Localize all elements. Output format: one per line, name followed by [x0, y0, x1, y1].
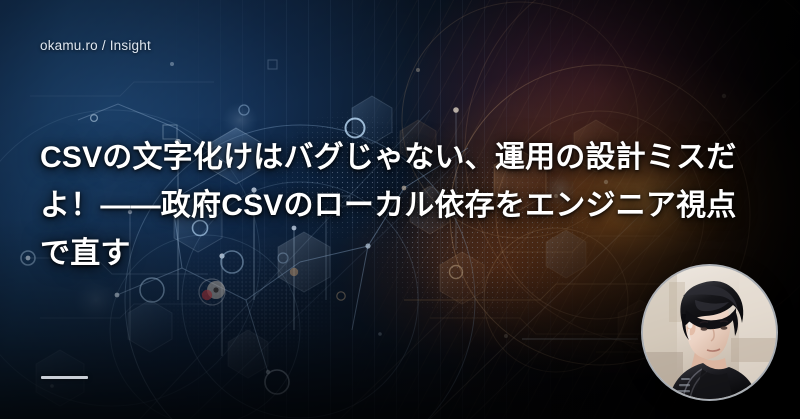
avatar-portrait-icon: [643, 266, 776, 399]
page-title: CSVの文字化けはバグじゃない、運用の設計ミスだよ！——政府CSVのローカル依存…: [40, 134, 752, 278]
title-underline-rule: [41, 376, 88, 379]
site-kicker: okamu.ro / Insight: [40, 38, 151, 53]
author-avatar: [643, 266, 776, 399]
article-hero-card: okamu.ro / Insight CSVの文字化けはバグじゃない、運用の設計…: [0, 0, 800, 419]
